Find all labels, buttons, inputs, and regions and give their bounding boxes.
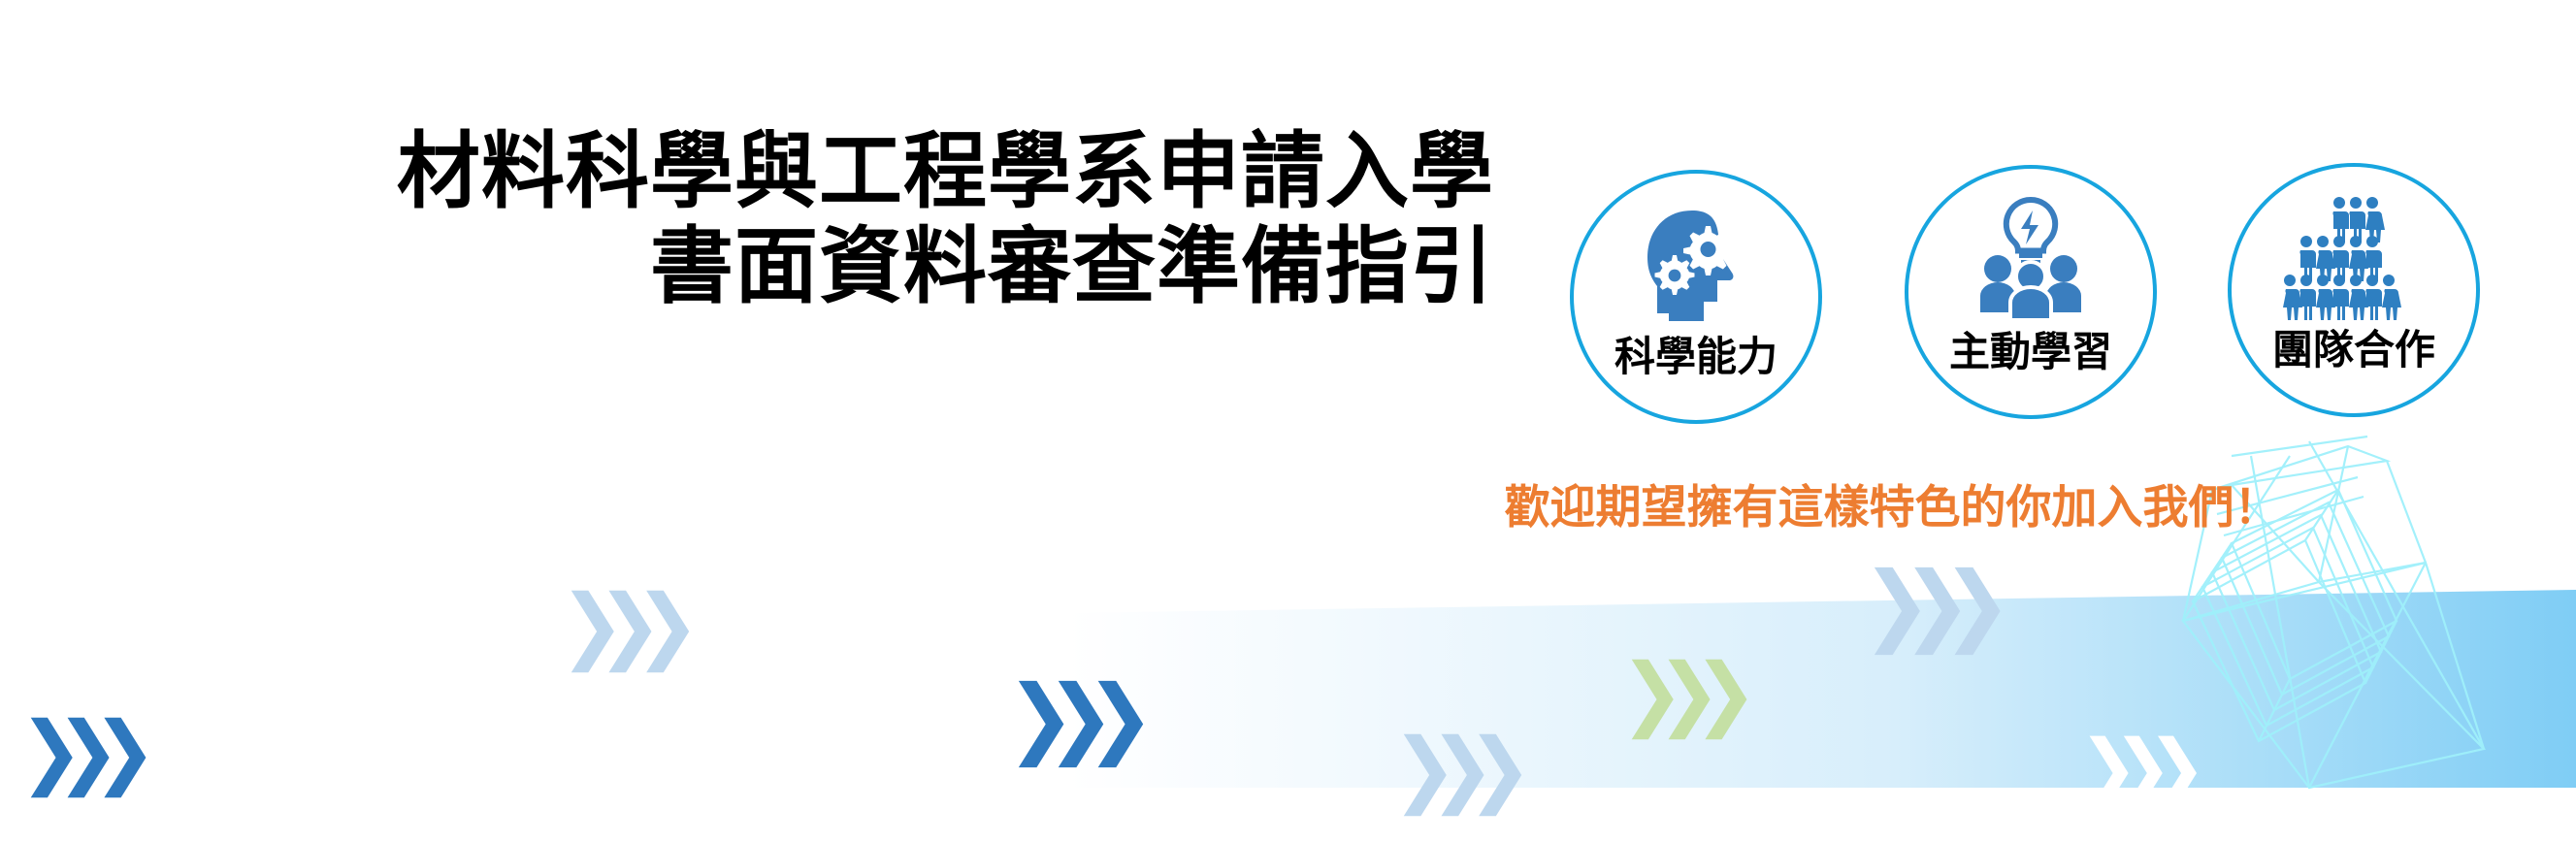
badge-teamwork: 團隊合作 (2228, 163, 2480, 417)
chevron-group-dark-center (1019, 681, 1143, 767)
badge-label: 主動學習 (1908, 332, 2153, 372)
chevron-group-green (1632, 660, 1747, 740)
tagline-text: 歡迎期望擁有這樣特色的你加入我們！ (1261, 485, 2523, 531)
chevron-group-lightblue-upper-right (1875, 567, 2001, 655)
chevron-group-lightblue-upper-left (571, 591, 689, 672)
badge-scientific-ability: 科學能力 (1570, 170, 1822, 424)
title-line-2: 書面資料審查準備指引 (58, 219, 1494, 314)
badge-label: 科學能力 (1574, 337, 1818, 377)
badge-label: 團隊合作 (2232, 330, 2476, 371)
lightbulb-over-people-icon (1908, 194, 2153, 326)
title-line-1: 材料科學與工程學系申請入學 (58, 124, 1494, 219)
page-title: 材料科學與工程學系申請入學 書面資料審查準備指引 (58, 124, 1494, 314)
banner-root: 材料科學與工程學系申請入學 書面資料審查準備指引 科學能力 (0, 0, 2576, 842)
chevron-group-dark-left (31, 718, 147, 798)
bottom-diagonal-band (1067, 590, 2576, 788)
badge-active-learning: 主動學習 (1905, 165, 2157, 419)
head-with-gears-icon (1574, 199, 1818, 331)
chevron-group-lightblue-lower-center (1404, 734, 1521, 816)
chevron-group-white-right (2090, 736, 2197, 811)
people-pyramid-icon (2232, 192, 2476, 324)
